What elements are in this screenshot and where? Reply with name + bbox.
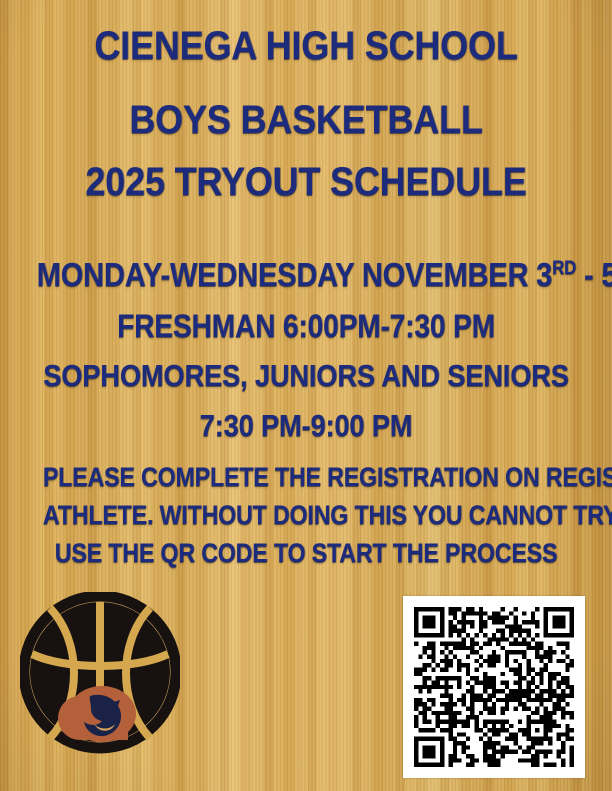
qr-code-image bbox=[414, 607, 574, 767]
upperclassmen-time-line: 7:30 PM-9:00 PM bbox=[37, 410, 576, 441]
registration-instruction-line-3: USE THE QR CODE TO START THE PROCESS bbox=[43, 540, 569, 567]
registration-qr-code[interactable] bbox=[403, 596, 585, 778]
tryout-dates-line: MONDAY-WEDNESDAY NOVEMBER 3RD - 5TH bbox=[37, 258, 576, 291]
registration-instruction-line-1: PLEASE COMPLETE THE REGISTRATION ON REGI… bbox=[43, 464, 569, 491]
upperclassmen-group-line: SOPHOMORES, JUNIORS AND SENIORS bbox=[37, 360, 576, 391]
program-name-heading: BOYS BASKETBALL bbox=[31, 100, 582, 140]
freshman-session-line: FRESHMAN 6:00PM-7:30 PM bbox=[37, 310, 576, 342]
tryout-flyer: CIENEGA HIGH SCHOOL BOYS BASKETBALL 2025… bbox=[0, 0, 612, 791]
cienega-bobcats-basketball-logo bbox=[20, 592, 180, 757]
registration-instruction-line-2: ATHLETE. WITHOUT DOING THIS YOU CANNOT T… bbox=[43, 502, 569, 529]
event-title-heading: 2025 TRYOUT SCHEDULE bbox=[31, 162, 582, 202]
tryout-dates-ordinal-suffix: RD bbox=[552, 258, 576, 279]
school-name-heading: CIENEGA HIGH SCHOOL bbox=[31, 26, 582, 66]
tryout-dates-end: - 5TH bbox=[576, 256, 612, 293]
tryout-dates-prefix: MONDAY-WEDNESDAY NOVEMBER 3 bbox=[37, 256, 552, 293]
